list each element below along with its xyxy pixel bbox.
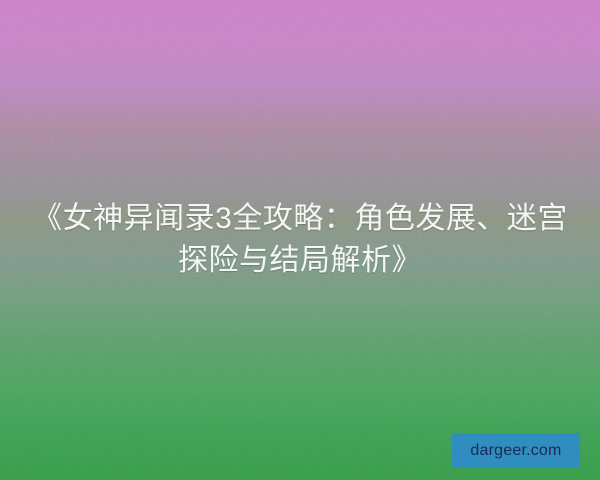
- page-title-line-2: 探险与结局解析》: [28, 240, 572, 282]
- page-title-line-1: 《女神异闻录3全攻略：角色发展、迷宫: [28, 198, 572, 240]
- gradient-banner: 《女神异闻录3全攻略：角色发展、迷宫 探险与结局解析》 dargeer.com: [0, 0, 600, 480]
- page-title: 《女神异闻录3全攻略：角色发展、迷宫 探险与结局解析》: [0, 198, 600, 282]
- watermark-label: dargeer.com: [470, 443, 561, 459]
- watermark-badge[interactable]: dargeer.com: [452, 433, 580, 468]
